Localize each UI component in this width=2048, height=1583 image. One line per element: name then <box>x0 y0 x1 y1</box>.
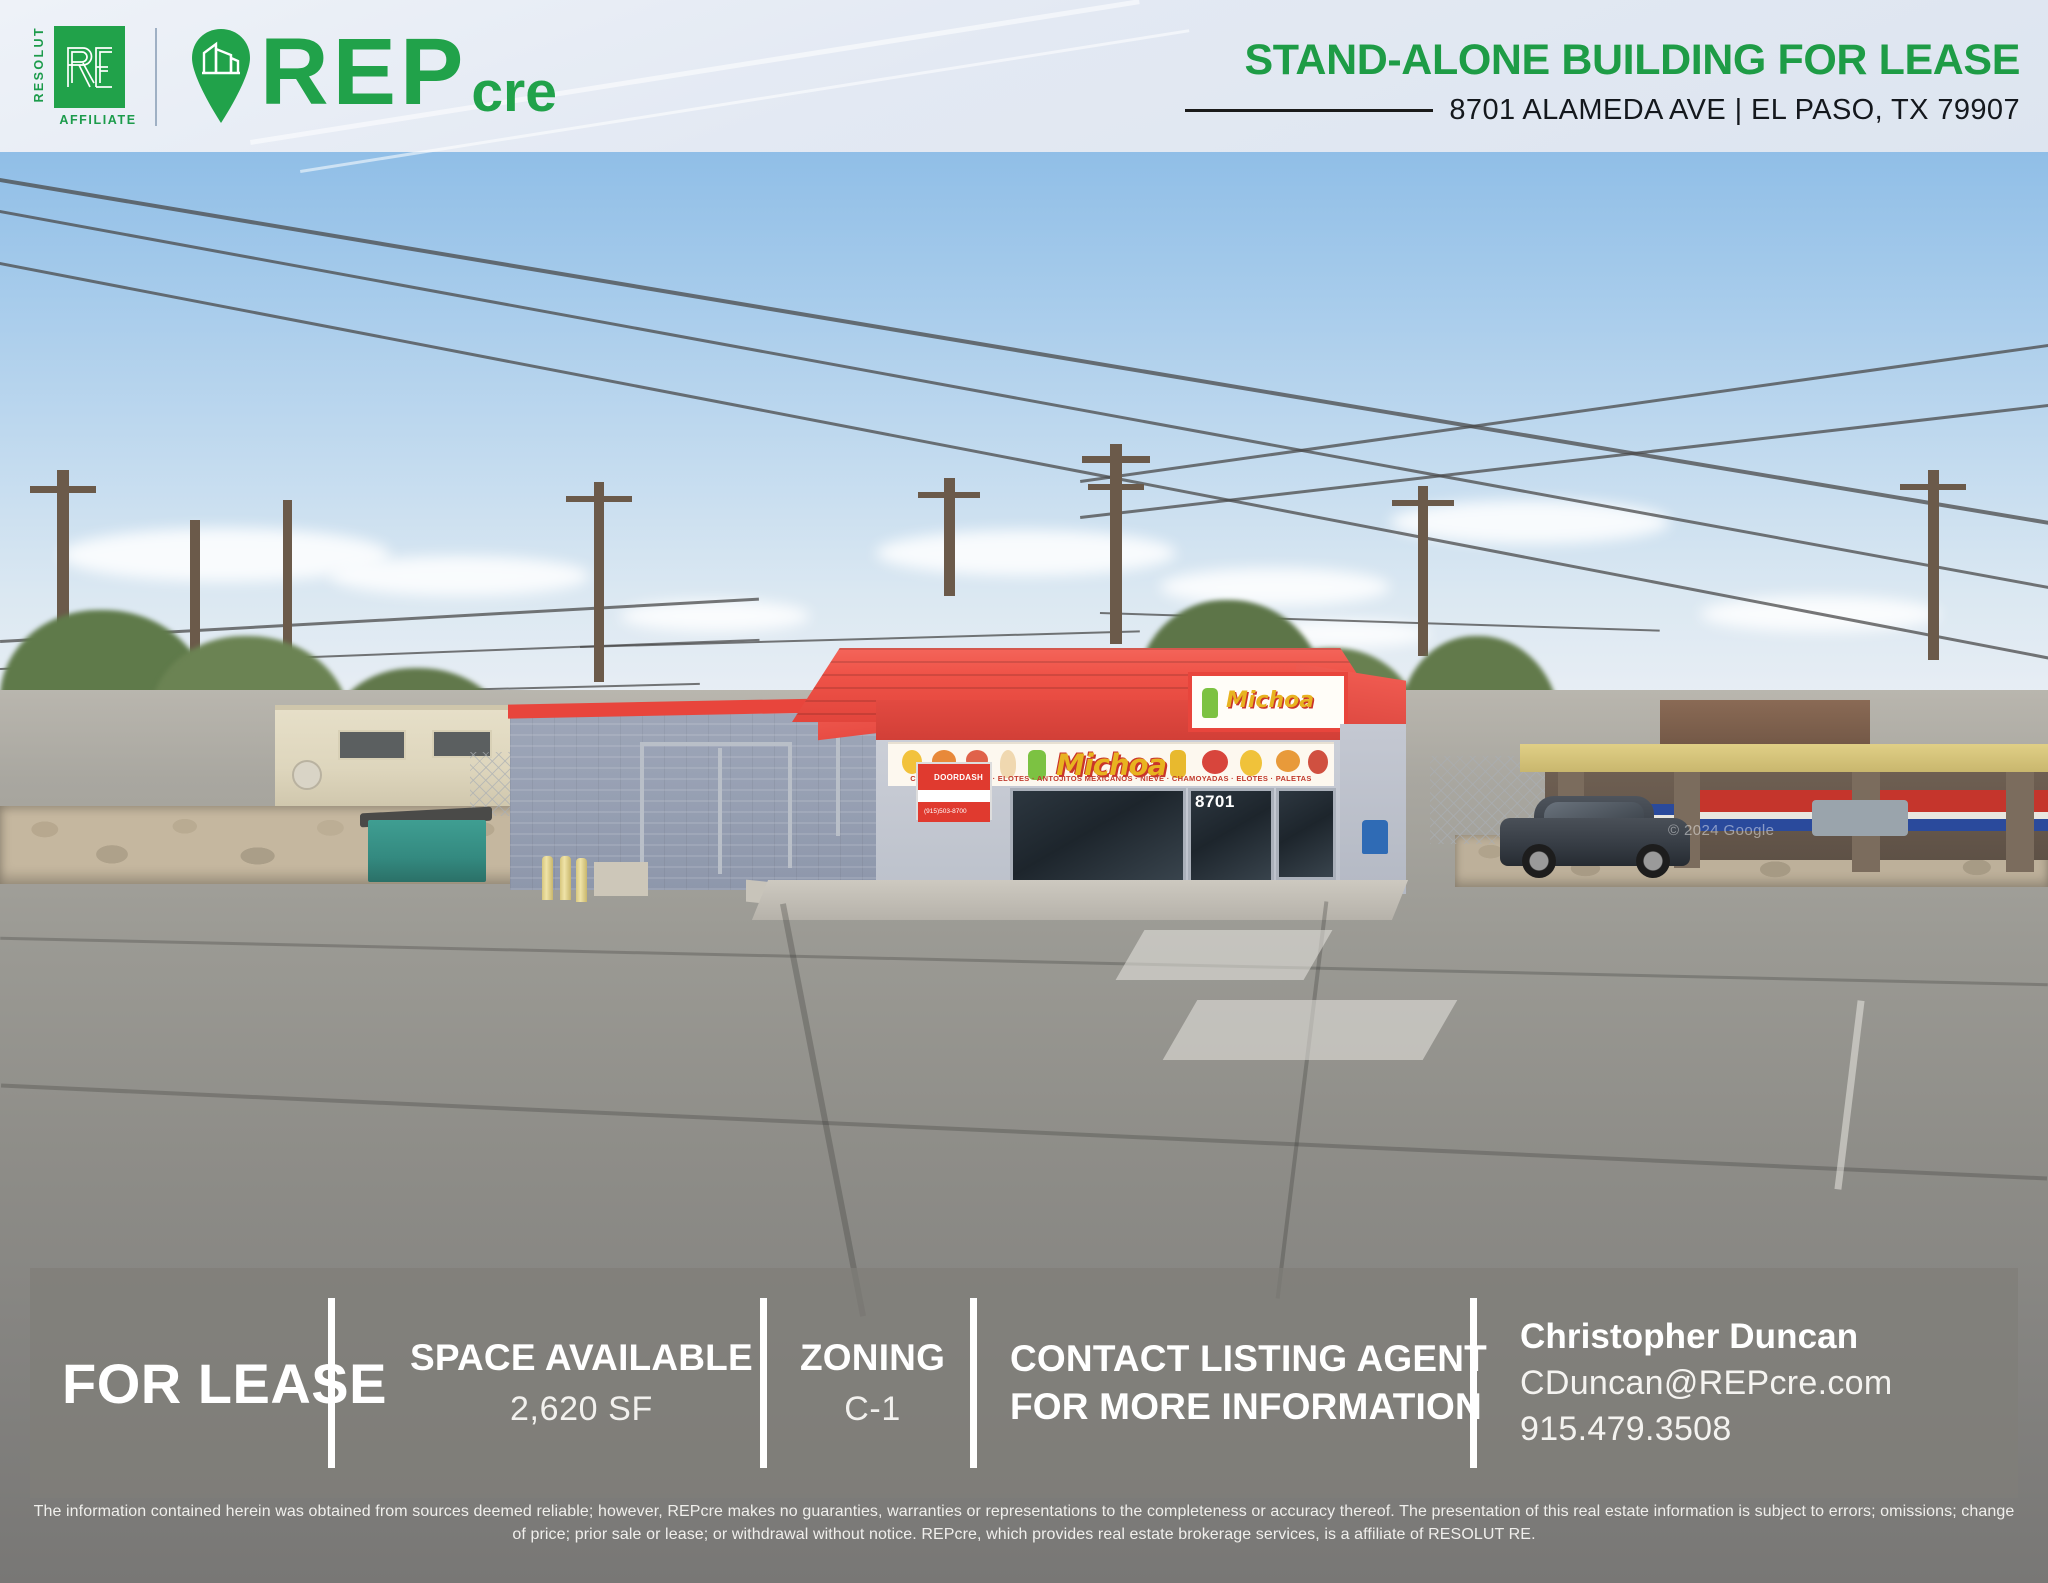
storefront-cabinet-sign: Michoa <box>1188 672 1348 732</box>
pole-crossarm <box>1088 484 1144 490</box>
contact-line-2: FOR MORE INFORMATION <box>1010 1383 1482 1431</box>
storefront-window <box>1276 788 1336 880</box>
agent-phone[interactable]: 915.479.3508 <box>1520 1407 1732 1453</box>
crosswalk-stripe <box>1163 1000 1458 1060</box>
space-available-label: SPACE AVAILABLE <box>410 1335 753 1381</box>
contact-callout-section: CONTACT LISTING AGENT FOR MORE INFORMATI… <box>1010 1268 1487 1498</box>
doordash-sign: DOORDASH (915)503-8700 <box>916 762 992 820</box>
repcre-logo[interactable]: REP cre <box>190 22 553 130</box>
listing-info-bar: FOR LEASE SPACE AVAILABLE 2,620 SF ZONIN… <box>30 1268 2018 1498</box>
doordash-sign-bottom: (915)503-8700 <box>918 802 990 822</box>
contact-line-1: CONTACT LISTING AGENT <box>1010 1335 1487 1383</box>
dumpster <box>368 820 486 882</box>
for-lease-label: FOR LEASE <box>62 1351 387 1416</box>
header-headline-block: STAND-ALONE BUILDING FOR LEASE 8701 ALAM… <box>1185 38 2020 127</box>
bollard <box>542 856 553 900</box>
bollard <box>576 858 587 902</box>
resolut-affiliate-logo: RESOLUT AFFILIATE <box>30 26 125 128</box>
utility-pole <box>1110 444 1122 644</box>
blue-mailbox <box>1362 820 1388 854</box>
flyer-header: RESOLUT AFFILIATE <box>0 0 2048 152</box>
wall-conduit <box>640 742 792 746</box>
listing-title: STAND-ALONE BUILDING FOR LEASE <box>1185 38 2020 83</box>
section-divider <box>760 1298 767 1468</box>
affiliate-label: AFFILIATE <box>48 114 148 127</box>
cabinet-sign-text: Michoa <box>1226 688 1314 713</box>
space-available-section: SPACE AVAILABLE 2,620 SF <box>410 1268 753 1498</box>
canopy-deck <box>1520 744 2048 772</box>
for-lease-section: FOR LEASE <box>62 1268 387 1498</box>
resolut-vertical-text: RESOLUT <box>28 26 50 128</box>
zoning-section: ZONING C-1 <box>800 1268 945 1498</box>
space-available-value: 2,620 SF <box>510 1387 653 1431</box>
agent-email[interactable]: CDuncan@REPcre.com <box>1520 1361 1892 1407</box>
section-divider <box>970 1298 977 1468</box>
cloud <box>876 530 1176 576</box>
repcre-suffix-text: cre <box>471 64 557 121</box>
repcre-main-text: REP <box>260 25 467 120</box>
property-address: 8701 ALAMEDA AVE | EL PASO, TX 79907 <box>1449 94 2020 127</box>
doordash-sub: (915)503-8700 <box>924 808 967 815</box>
re-monogram-icon <box>66 45 114 89</box>
storefront-window <box>1010 788 1186 884</box>
popsicle-icon <box>1202 688 1218 718</box>
pole-crossarm <box>566 496 632 502</box>
wall-conduit <box>836 724 840 836</box>
google-watermark: © 2024 Google <box>1668 822 1774 839</box>
wall-conduit <box>788 742 792 868</box>
wall-conduit <box>718 748 722 874</box>
crosswalk-stripe <box>1116 930 1333 980</box>
map-pin-building-icon <box>190 27 252 125</box>
doordash-label: DOORDASH <box>934 773 983 782</box>
pole-crossarm <box>1082 456 1150 463</box>
sidewalk <box>752 880 1408 920</box>
building-right-wing <box>1340 724 1406 894</box>
street-number: 8701 <box>1195 792 1235 812</box>
fruit-icon <box>1308 750 1328 774</box>
wall-conduit <box>640 742 644 874</box>
bollard <box>560 856 571 900</box>
doordash-sign-top: DOORDASH <box>918 764 990 790</box>
fruit-icon <box>1276 750 1300 772</box>
header-rule <box>1185 109 1433 112</box>
disclaimer-line-1: The information contained herein was obt… <box>30 1500 2018 1523</box>
wall-equipment-box <box>594 862 648 896</box>
disclaimer-block: The information contained herein was obt… <box>30 1500 2018 1546</box>
agent-name: Christopher Duncan <box>1520 1313 1858 1360</box>
utility-pole <box>1418 486 1428 656</box>
section-divider <box>328 1298 335 1468</box>
utility-pole <box>1928 470 1939 660</box>
car-wheel <box>1636 844 1670 878</box>
zoning-value: C-1 <box>844 1387 901 1431</box>
disclaimer-line-2: of price; prior sale or lease; or withdr… <box>30 1523 2018 1546</box>
satellite-dish <box>292 760 322 790</box>
pole-crossarm <box>1392 500 1454 506</box>
fruit-icon <box>1202 750 1228 774</box>
pole-crossarm <box>1900 484 1966 490</box>
cloud <box>330 556 590 596</box>
fruit-icon <box>1240 750 1262 776</box>
utility-pole <box>594 482 604 682</box>
pole-crossarm <box>30 486 96 493</box>
section-divider <box>1470 1298 1477 1468</box>
canopy-column <box>2006 772 2034 872</box>
parked-truck <box>1812 800 1908 836</box>
zoning-label: ZONING <box>800 1335 945 1381</box>
header-divider <box>155 28 157 126</box>
pole-crossarm <box>918 492 980 498</box>
resolut-wordmark: RESOLUT <box>33 26 46 103</box>
resolut-green-square <box>54 26 125 108</box>
cloud <box>1160 568 1390 606</box>
agent-contact-section: Christopher Duncan CDuncan@REPcre.com 91… <box>1520 1268 1892 1498</box>
header-address-row: 8701 ALAMEDA AVE | EL PASO, TX 79907 <box>1185 94 2020 127</box>
neighbor-window <box>338 730 406 760</box>
car-wheel <box>1522 844 1556 878</box>
